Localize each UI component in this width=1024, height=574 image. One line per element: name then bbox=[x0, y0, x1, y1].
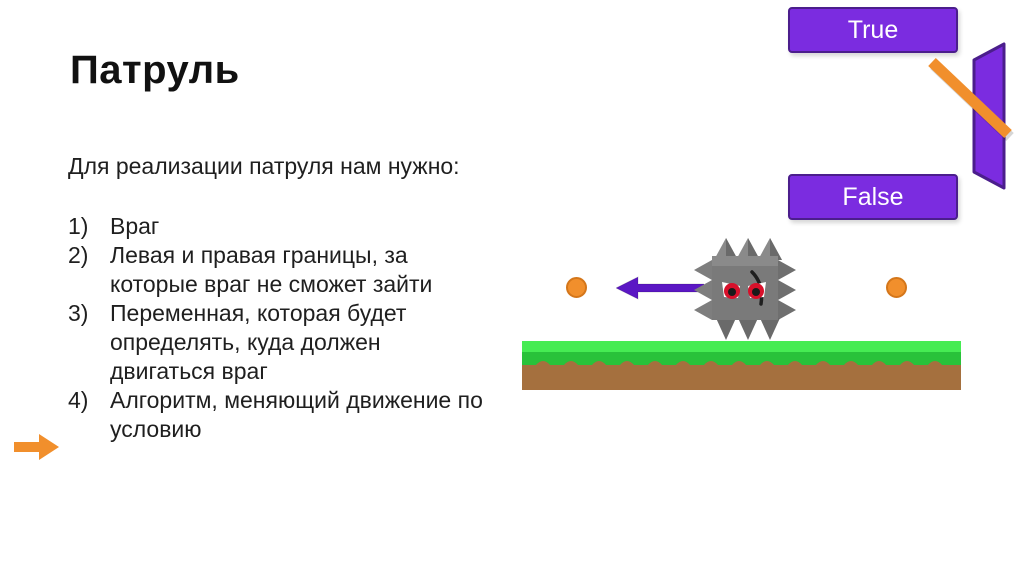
status-badge-false: False bbox=[788, 174, 958, 220]
diagonal-line-icon bbox=[920, 48, 1024, 148]
list-item-label: Левая и правая границы, за которые враг … bbox=[110, 241, 488, 299]
list-item: 4) Алгоритм, меняющий движение по услови… bbox=[68, 386, 488, 444]
list-item-label: Враг bbox=[110, 212, 488, 241]
list-item-marker: 3) bbox=[68, 299, 110, 386]
list-item-marker: 4) bbox=[68, 386, 110, 444]
requirements-list: 1) Враг 2) Левая и правая границы, за ко… bbox=[68, 212, 488, 444]
list-item-marker: 1) bbox=[68, 212, 110, 241]
list-item-label: Алгоритм, меняющий движение по условию bbox=[110, 386, 488, 444]
status-badge-true: True bbox=[788, 7, 958, 53]
intro-text: Для реализации патруля нам нужно: bbox=[68, 152, 478, 181]
arrow-left-icon bbox=[616, 276, 704, 300]
ground-platform bbox=[522, 341, 961, 390]
page-title: Патруль bbox=[70, 48, 240, 92]
list-item: 2) Левая и правая границы, за которые вр… bbox=[68, 241, 488, 299]
list-item-marker: 2) bbox=[68, 241, 110, 299]
list-item: 3) Переменная, которая будет определять,… bbox=[68, 299, 488, 386]
boundary-dot-icon-right bbox=[886, 277, 907, 298]
spiky-enemy-icon bbox=[692, 232, 796, 340]
list-item-label: Переменная, которая будет определять, ку… bbox=[110, 299, 488, 386]
list-item: 1) Враг bbox=[68, 212, 488, 241]
arrow-right-icon bbox=[14, 432, 60, 462]
boundary-dot-icon-left bbox=[566, 277, 587, 298]
